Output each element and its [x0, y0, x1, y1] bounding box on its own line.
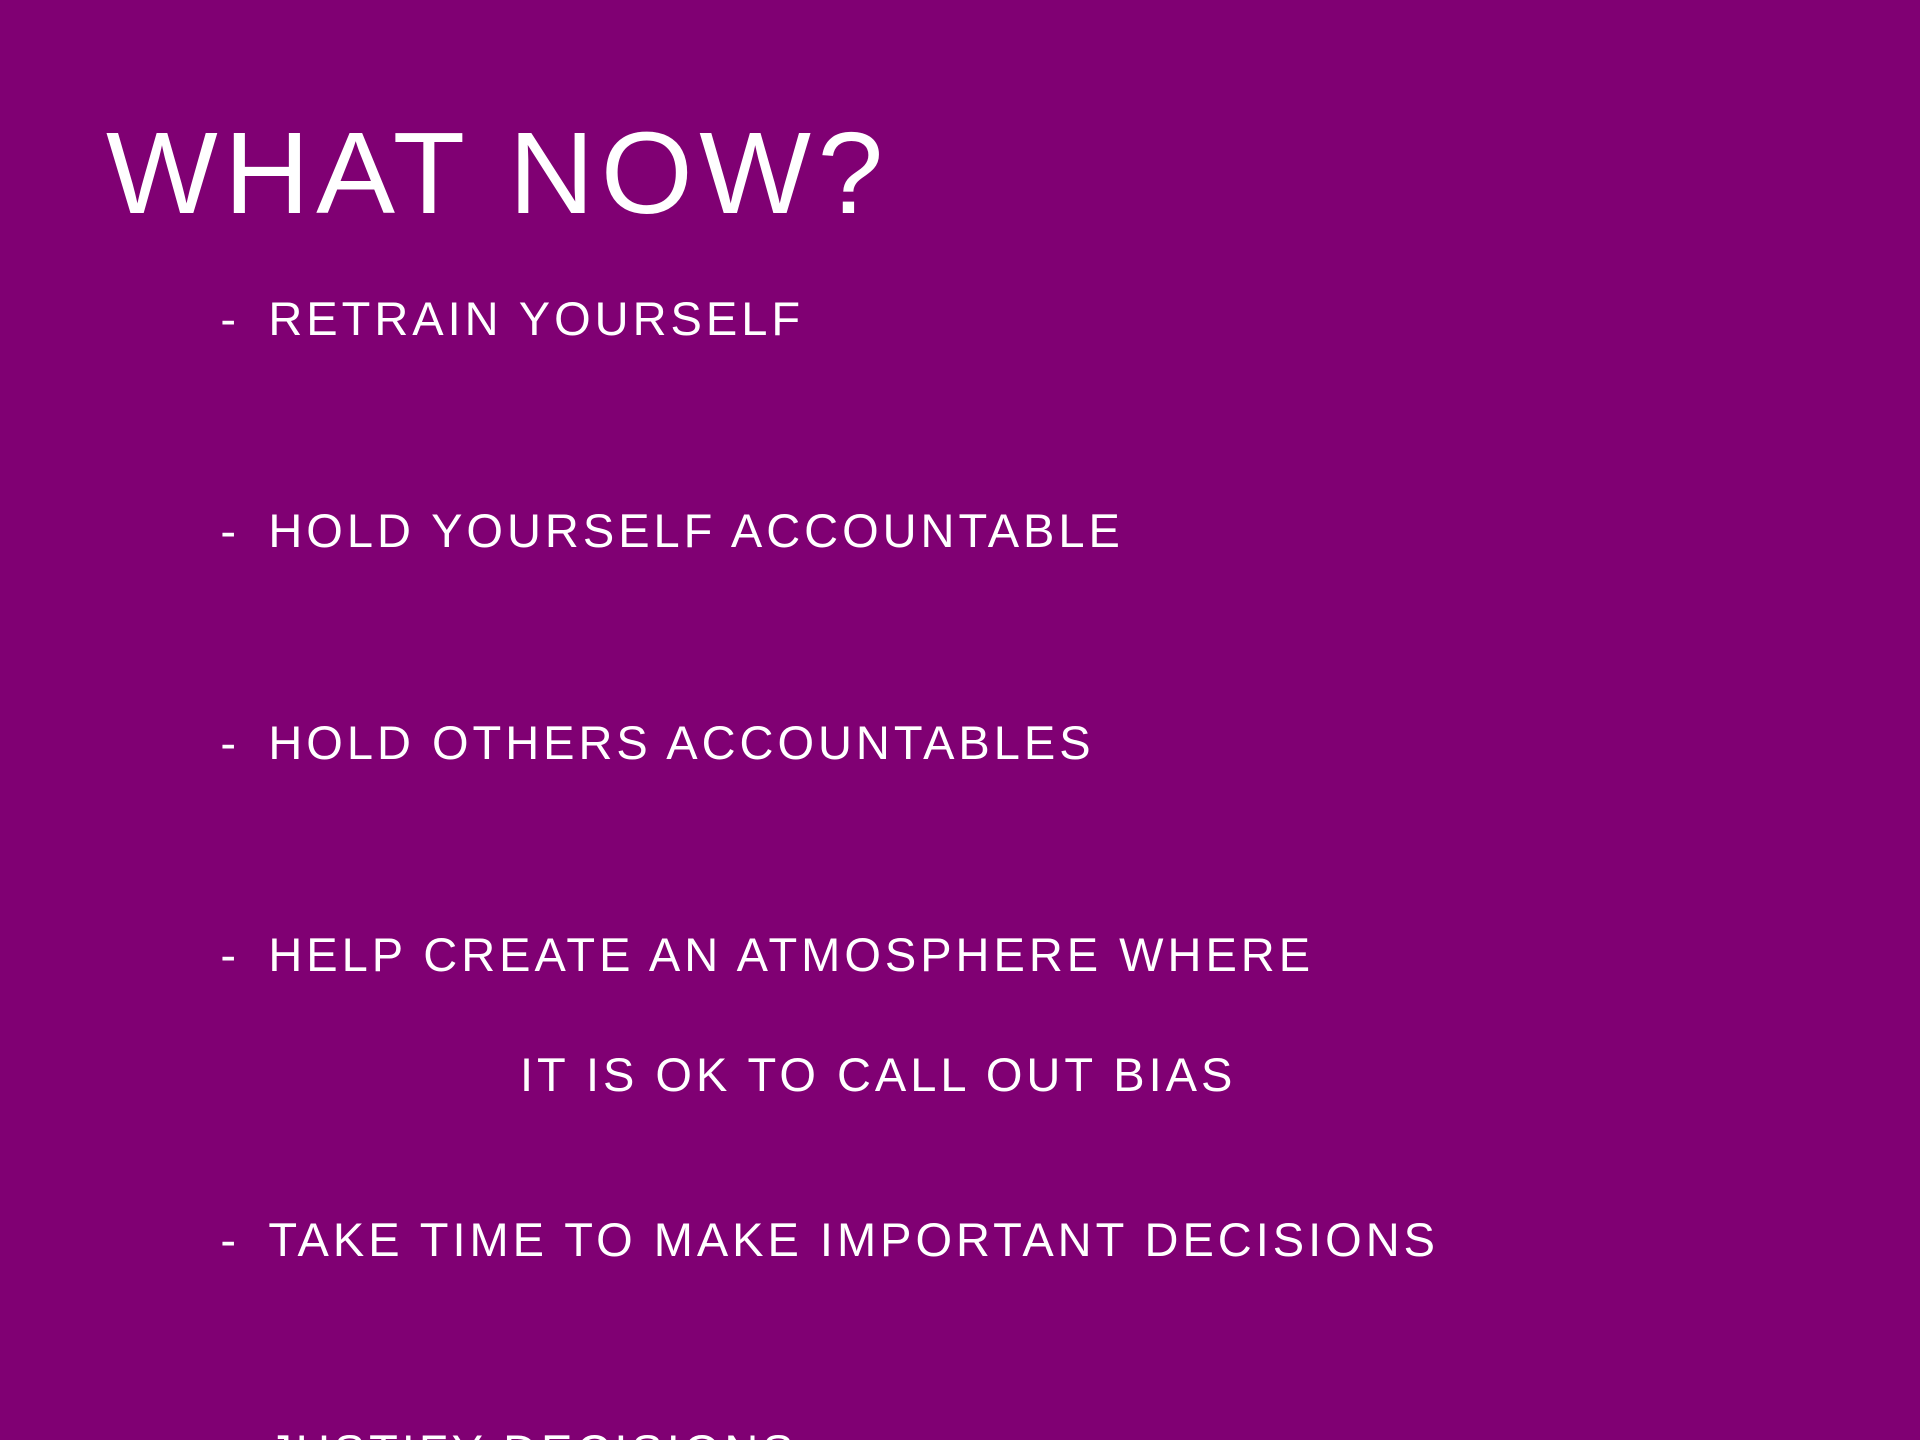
- list-item-label: RETRAIN YOURSELF: [268, 292, 804, 345]
- list-item-label: HOLD YOURSELF ACCOUNTABLE: [268, 504, 1124, 557]
- bullet-list: -RETRAIN YOURSELF -HOLD YOURSELF ACCOUNT…: [118, 248, 1878, 1440]
- bullet-marker-icon: -: [220, 931, 268, 978]
- list-item: -JUSTIFY DECISIONS: [118, 1381, 1878, 1440]
- list-item-label: HOLD OTHERS ACCOUNTABLES: [268, 716, 1094, 769]
- list-item-label: JUSTIFY DECISIONS: [268, 1425, 797, 1440]
- bullet-marker-icon: -: [220, 507, 268, 554]
- list-item: -TAKE TIME TO MAKE IMPORTANT DECISIONS: [118, 1169, 1878, 1310]
- list-item: -HOLD YOURSELF ACCOUNTABLE: [118, 460, 1878, 601]
- list-item: -HELP CREATE AN ATMOSPHERE WHERE: [118, 884, 1878, 1025]
- page-title: WHAT NOW?: [106, 114, 890, 232]
- bullet-marker-icon: -: [220, 719, 268, 766]
- bullet-marker-icon: -: [220, 295, 268, 342]
- list-item-label: TAKE TIME TO MAKE IMPORTANT DECISIONS: [268, 1213, 1439, 1266]
- bullet-marker-icon: -: [220, 1216, 268, 1263]
- list-item: -RETRAIN YOURSELF: [118, 248, 1878, 389]
- list-item-continuation: IT IS OK TO CALL OUT BIAS: [118, 1051, 1878, 1098]
- list-item-label: HELP CREATE AN ATMOSPHERE WHERE: [268, 928, 1314, 981]
- presentation-slide: WHAT NOW? -RETRAIN YOURSELF -HOLD YOURSE…: [0, 0, 1920, 1440]
- bullet-marker-icon: -: [220, 1428, 268, 1440]
- list-item: -HOLD OTHERS ACCOUNTABLES: [118, 672, 1878, 813]
